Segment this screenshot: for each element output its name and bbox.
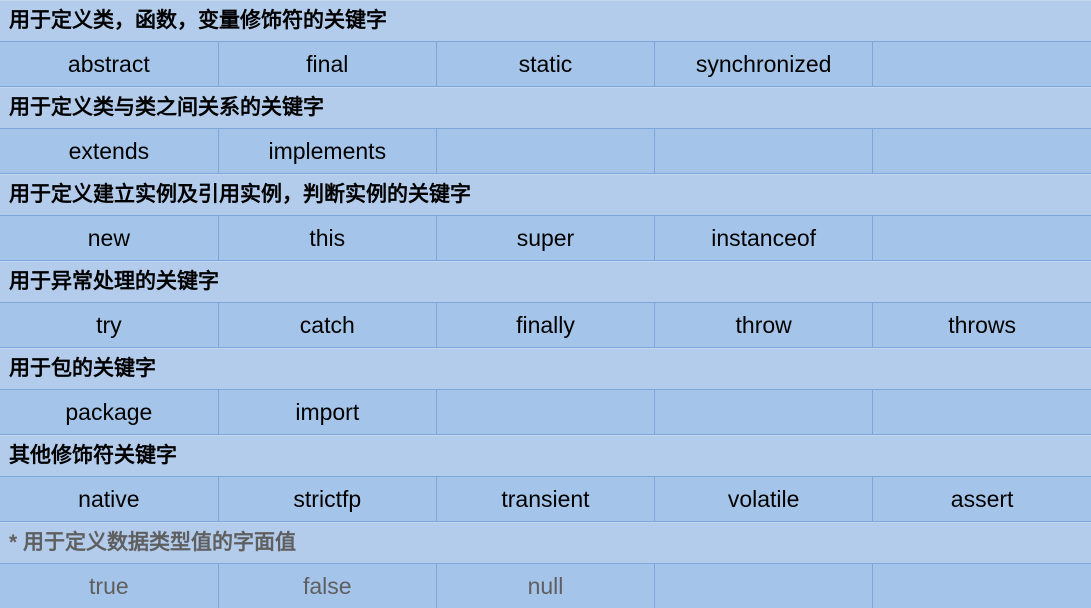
keyword-cell[interactable]: new	[0, 216, 218, 261]
section-header-row: 用于定义类与类之间关系的关键字	[0, 87, 1091, 129]
section-header-row: 用于定义类，函数，变量修饰符的关键字	[0, 0, 1091, 42]
keyword-cell[interactable]: instanceof	[655, 216, 873, 261]
keyword-cell-empty	[873, 42, 1091, 87]
keyword-cell-empty	[873, 564, 1091, 608]
keyword-cell-empty	[873, 390, 1091, 435]
section-header-row: 用于定义建立实例及引用实例，判断实例的关键字	[0, 174, 1091, 216]
keyword-cell-empty	[873, 216, 1091, 261]
keyword-cell[interactable]: native	[0, 477, 218, 522]
keyword-cell[interactable]: throws	[873, 303, 1091, 348]
keyword-cell[interactable]: false	[218, 564, 436, 608]
section-header-label: 用于异常处理的关键字	[0, 261, 1091, 303]
keyword-row: nativestrictfptransientvolatileassert	[0, 477, 1091, 522]
keyword-cell[interactable]: null	[436, 564, 654, 608]
keyword-row: packageimport	[0, 390, 1091, 435]
keyword-cell-empty	[655, 564, 873, 608]
keyword-cell-empty	[655, 129, 873, 174]
keyword-row: truefalsenull	[0, 564, 1091, 608]
keyword-cell[interactable]: synchronized	[655, 42, 873, 87]
keyword-cell[interactable]: assert	[873, 477, 1091, 522]
keyword-cell[interactable]: finally	[436, 303, 654, 348]
section-header-row: 其他修饰符关键字	[0, 435, 1091, 477]
section-header-label: 用于定义建立实例及引用实例，判断实例的关键字	[0, 174, 1091, 216]
keyword-cell[interactable]: final	[218, 42, 436, 87]
keyword-cell[interactable]: package	[0, 390, 218, 435]
keyword-row: extendsimplements	[0, 129, 1091, 174]
keyword-cell[interactable]: extends	[0, 129, 218, 174]
section-header-row: 用于包的关键字	[0, 348, 1091, 390]
keyword-cell[interactable]: true	[0, 564, 218, 608]
keyword-cell[interactable]: static	[436, 42, 654, 87]
keyword-cell[interactable]: catch	[218, 303, 436, 348]
keyword-cell-empty	[873, 129, 1091, 174]
keyword-cell[interactable]: strictfp	[218, 477, 436, 522]
keyword-cell-empty	[655, 390, 873, 435]
keyword-cell-empty	[436, 390, 654, 435]
keyword-cell[interactable]: this	[218, 216, 436, 261]
section-header-label: 用于包的关键字	[0, 348, 1091, 390]
keyword-cell[interactable]: abstract	[0, 42, 218, 87]
keyword-cell[interactable]: transient	[436, 477, 654, 522]
keyword-cell-empty	[436, 129, 654, 174]
java-keyword-table: 用于定义类，函数，变量修饰符的关键字abstractfinalstaticsyn…	[0, 0, 1091, 608]
section-header-label: 用于定义类与类之间关系的关键字	[0, 87, 1091, 129]
section-header-row: 用于异常处理的关键字	[0, 261, 1091, 303]
section-header-row: * 用于定义数据类型值的字面值	[0, 522, 1091, 564]
keyword-row: abstractfinalstaticsynchronized	[0, 42, 1091, 87]
table-body: 用于定义类，函数，变量修饰符的关键字abstractfinalstaticsyn…	[0, 0, 1091, 608]
section-header-label: 用于定义类，函数，变量修饰符的关键字	[0, 0, 1091, 42]
keyword-cell[interactable]: try	[0, 303, 218, 348]
keyword-row: newthissuperinstanceof	[0, 216, 1091, 261]
keyword-cell[interactable]: volatile	[655, 477, 873, 522]
keyword-cell[interactable]: implements	[218, 129, 436, 174]
section-header-label: * 用于定义数据类型值的字面值	[0, 522, 1091, 564]
keyword-cell[interactable]: super	[436, 216, 654, 261]
keyword-row: trycatchfinallythrowthrows	[0, 303, 1091, 348]
keyword-cell[interactable]: throw	[655, 303, 873, 348]
keyword-cell[interactable]: import	[218, 390, 436, 435]
section-header-label: 其他修饰符关键字	[0, 435, 1091, 477]
